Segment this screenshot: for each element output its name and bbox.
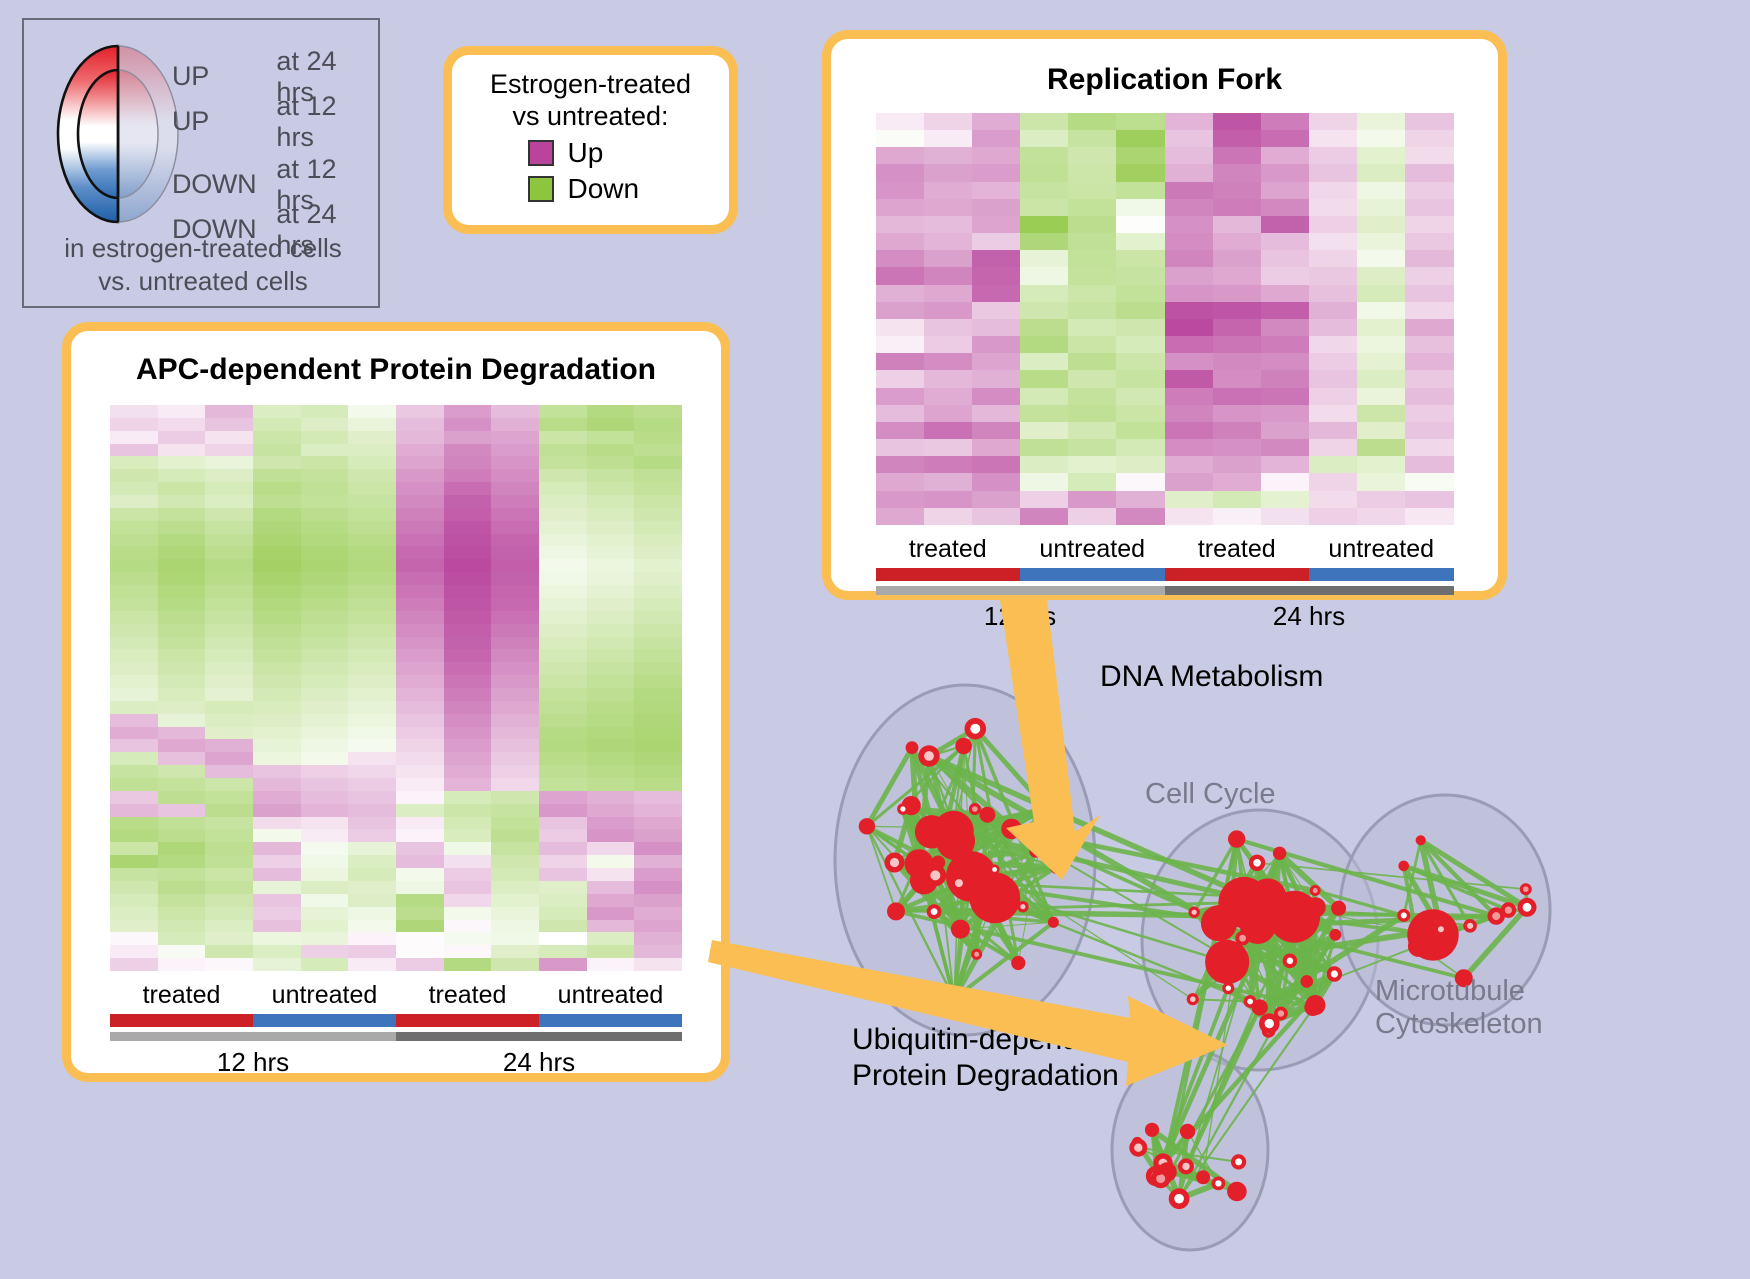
heatmap-cell (491, 739, 539, 752)
heatmap-cell (491, 817, 539, 830)
network-node-core (1287, 958, 1294, 965)
heatmap-cell (1309, 130, 1357, 147)
network-node[interactable] (1152, 1164, 1163, 1175)
heatmap-cell (348, 637, 396, 650)
heatmap-cell (587, 546, 635, 559)
heatmap-cell (587, 688, 635, 701)
heatmap-cell (1309, 405, 1357, 422)
heatmap-cell (110, 624, 158, 637)
heatmap-cell (205, 418, 253, 431)
heatmap-cell (158, 804, 206, 817)
heatmap-cell (110, 842, 158, 855)
heatmap-cell (972, 302, 1020, 319)
heatmap-cell (301, 598, 349, 611)
heatmap-cell (205, 920, 253, 933)
heatmap-cell (1068, 250, 1116, 267)
heatmap-cell (539, 932, 587, 945)
heatmap-cell (634, 637, 682, 650)
heatmap-cell (110, 714, 158, 727)
heatmap-cell (1261, 199, 1309, 216)
heatmap-cell (444, 546, 492, 559)
heatmap-cell (1309, 164, 1357, 181)
heatmap-cell (1405, 285, 1453, 302)
heatmap-cell (1116, 508, 1164, 525)
direction-legend-footnote: in estrogen-treated cells vs. untreated … (24, 232, 382, 299)
heatmap-cell (539, 405, 587, 418)
heatmap-cell (158, 920, 206, 933)
heatmap-cell (924, 456, 972, 473)
network-node[interactable] (1273, 847, 1286, 860)
heatmap-cell (634, 662, 682, 675)
network-node[interactable] (1001, 819, 1022, 840)
network-node[interactable] (1201, 905, 1237, 941)
heatmap-cell (301, 521, 349, 534)
heatmap-cell (444, 855, 492, 868)
heatmap-cell (301, 508, 349, 521)
heatmap-cell (924, 285, 972, 302)
heatmap-cell (587, 675, 635, 688)
heatmap-cell (348, 521, 396, 534)
heatmap-cell (1405, 319, 1453, 336)
network-node[interactable] (1398, 861, 1409, 872)
heatmap-cell (253, 958, 301, 971)
heatmap-cell (972, 353, 1020, 370)
heatmap-cell (1405, 336, 1453, 353)
heatmap-cell (972, 147, 1020, 164)
heatmap-cell (924, 405, 972, 422)
heatmap-cell (1261, 285, 1309, 302)
network-node[interactable] (979, 807, 995, 823)
heatmap-cell (587, 894, 635, 907)
network-node[interactable] (1330, 929, 1342, 941)
heatmap-cell (539, 907, 587, 920)
heatmap-cell (158, 778, 206, 791)
heatmap-cell (396, 894, 444, 907)
heatmap-cell (1068, 182, 1116, 199)
heatmap-cell (1213, 405, 1261, 422)
heatmap-cell (444, 868, 492, 881)
heatmap-cell (1020, 336, 1068, 353)
heatmap-cell (1357, 319, 1405, 336)
heatmap-cell (348, 881, 396, 894)
heatmap-cell (158, 752, 206, 765)
heatmap-cell (253, 881, 301, 894)
heatmap-cell (491, 418, 539, 431)
heatmap-cell (924, 388, 972, 405)
group-color-segment (1165, 568, 1310, 581)
heatmap-cell (253, 482, 301, 495)
network-node[interactable] (1304, 999, 1321, 1016)
heatmap-cell (634, 945, 682, 958)
heatmap-cell (158, 469, 206, 482)
network-node[interactable] (1305, 897, 1325, 917)
legend-row: UP at 12 hrs (172, 99, 378, 144)
network-node-core (1043, 805, 1051, 813)
network-node-core (1505, 907, 1512, 914)
heatmap-cell (1020, 405, 1068, 422)
heatmap-cell (587, 508, 635, 521)
heatmap-cell (876, 456, 924, 473)
heatmap-cell (1405, 267, 1453, 284)
heatmap-cell (396, 739, 444, 752)
network-node[interactable] (1416, 835, 1426, 845)
heatmap-cell (253, 739, 301, 752)
apc-degradation-panel: APC-dependent Protein Degradation treate… (62, 322, 730, 1082)
heatmap-cell (301, 649, 349, 662)
heatmap-cell (158, 598, 206, 611)
heatmap-cell (587, 829, 635, 842)
heatmap-cell (396, 958, 444, 971)
heatmap-cell (110, 817, 158, 830)
heatmap-cell (634, 418, 682, 431)
heatmap-cell (587, 920, 635, 933)
heatmap-cell (1261, 456, 1309, 473)
heatmap-cell (158, 444, 206, 457)
heatmap-cell (924, 182, 972, 199)
heatmap-cell (110, 585, 158, 598)
heatmap-cell (1261, 508, 1309, 525)
heatmap-cell (348, 765, 396, 778)
heatmap-cell (1116, 113, 1164, 130)
heatmap-cell (110, 920, 158, 933)
legend-item-down: Down (452, 173, 729, 205)
heatmap-cell (539, 559, 587, 572)
network-node[interactable] (1145, 1123, 1159, 1137)
heatmap-cell (158, 521, 206, 534)
heatmap-cell (634, 804, 682, 817)
heatmap-cell (1261, 302, 1309, 319)
heatmap-cell (444, 405, 492, 418)
heatmap-cell (253, 585, 301, 598)
heatmap-cell (1309, 388, 1357, 405)
heatmap-cell (1165, 319, 1213, 336)
heatmap-cell (1020, 388, 1068, 405)
heatmap-cell (396, 688, 444, 701)
heatmap-cell (1405, 164, 1453, 181)
network-node[interactable] (1408, 936, 1429, 957)
network-node-core (1331, 970, 1338, 977)
network-node[interactable] (969, 872, 1020, 923)
heatmap-cell (539, 727, 587, 740)
heatmap-cell (301, 868, 349, 881)
heatmap-cell (301, 572, 349, 585)
heatmap-cell (634, 868, 682, 881)
heatmap-cell (1068, 405, 1116, 422)
heatmap-cell (1309, 473, 1357, 490)
heatmap-cell (1068, 285, 1116, 302)
heatmap-cell (1213, 456, 1261, 473)
heatmap-cell (1309, 285, 1357, 302)
heatmap-cell (301, 765, 349, 778)
heatmap-cell (1020, 182, 1068, 199)
network-node[interactable] (887, 902, 905, 920)
heatmap-cell (1165, 473, 1213, 490)
heatmap-cell (205, 855, 253, 868)
heatmap-cell (205, 932, 253, 945)
network-node-core (1235, 1158, 1242, 1165)
network-node[interactable] (1196, 1170, 1210, 1184)
heatmap-cell (253, 508, 301, 521)
heatmap-cell (1261, 422, 1309, 439)
heatmap-cell (253, 804, 301, 817)
heatmap-cell (1165, 439, 1213, 456)
heatmap-cell (110, 907, 158, 920)
heatmap-cell (158, 534, 206, 547)
heatmap-cell (1261, 147, 1309, 164)
heatmap-cell (539, 572, 587, 585)
network-node[interactable] (1295, 893, 1308, 906)
heatmap-cell (205, 495, 253, 508)
heatmap-cell (1309, 250, 1357, 267)
heatmap-cell (253, 495, 301, 508)
heatmap-cell (634, 534, 682, 547)
heatmap-cell (587, 868, 635, 881)
heatmap-cell (539, 829, 587, 842)
heatmap-cell (301, 456, 349, 469)
network-node[interactable] (1228, 830, 1245, 847)
heatmap-cell (1213, 491, 1261, 508)
heatmap-cell (634, 778, 682, 791)
heatmap-cell (348, 688, 396, 701)
heatmap-cell (205, 469, 253, 482)
network-node[interactable] (859, 818, 875, 834)
heatmap-cell (110, 431, 158, 444)
timepoint-color-segment (1165, 586, 1454, 595)
heatmap-cell (634, 894, 682, 907)
heatmap-cell (1116, 456, 1164, 473)
heatmap-cell (1116, 353, 1164, 370)
timepoint-color-bar (110, 1032, 682, 1041)
network-node[interactable] (906, 741, 919, 754)
heatmap-cell (158, 456, 206, 469)
heatmap-cell (110, 456, 158, 469)
heatmap-cell (1261, 491, 1309, 508)
heatmap-cell (1165, 130, 1213, 147)
heatmap-cell (1357, 473, 1405, 490)
network-node[interactable] (1205, 940, 1249, 984)
heatmap-cell (158, 932, 206, 945)
heatmap-cell (587, 495, 635, 508)
heatmap-cell (1261, 336, 1309, 353)
estrogen-legend-panel: Estrogen-treated vs untreated: Up Down (443, 46, 738, 234)
heatmap-cell (158, 688, 206, 701)
heatmap-cell (1405, 130, 1453, 147)
heatmap-cell (253, 932, 301, 945)
heatmap-cell (158, 842, 206, 855)
network-node-core (1492, 912, 1500, 920)
heatmap-cell (205, 804, 253, 817)
heatmap-cell (444, 907, 492, 920)
heatmap-cell (1261, 113, 1309, 130)
heatmap-cell (539, 714, 587, 727)
heatmap-cell (301, 791, 349, 804)
heatmap-cell (205, 572, 253, 585)
heatmap-cell (1165, 113, 1213, 130)
heatmap-cell (396, 585, 444, 598)
network-node-core (1134, 1144, 1142, 1152)
heatmap-cell (587, 534, 635, 547)
heatmap-cell (587, 945, 635, 958)
treatment-color-bar (110, 1014, 682, 1027)
heatmap-cell (301, 662, 349, 675)
heatmap-cell (1068, 267, 1116, 284)
heatmap-cell (491, 611, 539, 624)
heatmap-cell (158, 907, 206, 920)
heatmap-cell (396, 456, 444, 469)
network-node[interactable] (951, 920, 970, 939)
network-node[interactable] (1227, 1182, 1247, 1202)
legend-direction: UP (172, 106, 276, 137)
heatmap-cell (1309, 422, 1357, 439)
heatmap-cell (924, 370, 972, 387)
heatmap-cell (205, 739, 253, 752)
heatmap-cell (348, 675, 396, 688)
heatmap-cell (158, 701, 206, 714)
heatmap-cell (539, 881, 587, 894)
heatmap-cell (396, 508, 444, 521)
heatmap-cell (1165, 216, 1213, 233)
heatmap-cell (444, 572, 492, 585)
heatmap-cell (491, 855, 539, 868)
heatmap-cell (634, 907, 682, 920)
heatmap-cell (110, 804, 158, 817)
network-node[interactable] (955, 738, 972, 755)
heatmap-cell (1309, 216, 1357, 233)
heatmap-cell (972, 164, 1020, 181)
heatmap-cell (1020, 456, 1068, 473)
heatmap-cell (924, 422, 972, 439)
heatmap-cell (587, 649, 635, 662)
heatmap-cell (1116, 302, 1164, 319)
timepoint-label: 12 hrs (110, 1047, 396, 1078)
heatmap-cell (205, 444, 253, 457)
heatmap-cell (491, 649, 539, 662)
heatmap-cell (1261, 130, 1309, 147)
heatmap-cell (1405, 491, 1453, 508)
heatmap-cell (205, 791, 253, 804)
direction-legend-rows: UP at 24 hrs UP at 12 hrs DOWN at 12 hrs… (172, 54, 378, 252)
network-node-core (1226, 986, 1231, 991)
network-node-core (1278, 1010, 1284, 1016)
heatmap-cell (110, 637, 158, 650)
heatmap-cell (1068, 388, 1116, 405)
heatmap-cell (301, 675, 349, 688)
heatmap-cell (876, 473, 924, 490)
heatmap-cell (396, 662, 444, 675)
heatmap-cell (587, 611, 635, 624)
panel-title: Replication Fork (831, 63, 1498, 97)
heatmap-cell (924, 319, 972, 336)
heatmap-cell (205, 868, 253, 881)
heatmap-cell (1405, 422, 1453, 439)
network-node[interactable] (1331, 901, 1346, 916)
heatmap-cell (1116, 439, 1164, 456)
heatmap-cell (491, 791, 539, 804)
heatmap-cell (1165, 267, 1213, 284)
heatmap-cell (924, 113, 972, 130)
heatmap-cell (634, 624, 682, 637)
heatmap-cell (396, 649, 444, 662)
heatmap-cell (1405, 250, 1453, 267)
heatmap-cell (396, 817, 444, 830)
heatmap-cell (634, 521, 682, 534)
network-node[interactable] (1180, 1124, 1195, 1139)
heatmap-cell (444, 932, 492, 945)
heatmap-cell (110, 534, 158, 547)
heatmap-cell (1020, 353, 1068, 370)
heatmap-cell (539, 945, 587, 958)
heatmap-cell (253, 765, 301, 778)
heatmap-cell (491, 469, 539, 482)
network-node[interactable] (933, 811, 974, 852)
heatmap-cell (348, 508, 396, 521)
network-node[interactable] (1050, 859, 1065, 874)
heatmap-cell (1116, 370, 1164, 387)
network-node[interactable] (1301, 975, 1314, 988)
heatmap-cell (348, 598, 396, 611)
group-color-segment (1309, 568, 1454, 581)
heatmap-cell (539, 495, 587, 508)
heatmap-cell (158, 637, 206, 650)
heatmap-cell (972, 422, 1020, 439)
heatmap-cell (634, 611, 682, 624)
heatmap-cell (634, 932, 682, 945)
heatmap-cell (587, 958, 635, 971)
heatmap-cell (1309, 267, 1357, 284)
heatmap-cell (972, 130, 1020, 147)
heatmap-cell (539, 688, 587, 701)
heatmap-cell (1405, 182, 1453, 199)
heatmap-cell (110, 855, 158, 868)
heatmap-cell (158, 418, 206, 431)
heatmap-cell (1357, 370, 1405, 387)
heatmap-cell (301, 611, 349, 624)
heatmap-cell (1213, 353, 1261, 370)
network-node[interactable] (1011, 956, 1025, 970)
heatmap-cell (444, 752, 492, 765)
network-node[interactable] (1029, 845, 1042, 858)
heatmap-cell (972, 508, 1020, 525)
heatmap-cell (1357, 199, 1405, 216)
heatmap-cell (444, 714, 492, 727)
network-node[interactable] (1048, 917, 1059, 928)
heatmap-cell (924, 302, 972, 319)
heatmap-cell (396, 868, 444, 881)
heatmap-cell (1357, 422, 1405, 439)
heatmap-cell (539, 611, 587, 624)
heatmap-cell (1261, 267, 1309, 284)
heatmap-cell (396, 881, 444, 894)
heatmap-cell (587, 739, 635, 752)
network-node[interactable] (931, 856, 945, 870)
heatmap-cell (539, 920, 587, 933)
heatmap-cell (634, 508, 682, 521)
heatmap-cell (348, 546, 396, 559)
heatmap-cell (539, 817, 587, 830)
heatmap-cell (634, 469, 682, 482)
heatmap-cell (1068, 164, 1116, 181)
heatmap-cell (348, 701, 396, 714)
heatmap-cell (301, 894, 349, 907)
heatmap-cell (1405, 113, 1453, 130)
heatmap-cell (1213, 319, 1261, 336)
heatmap-cell (539, 765, 587, 778)
heatmap-cell (1357, 353, 1405, 370)
heatmap-cell (444, 624, 492, 637)
heatmap-cell (972, 491, 1020, 508)
heatmap-cell (587, 405, 635, 418)
heatmap-cell (348, 611, 396, 624)
